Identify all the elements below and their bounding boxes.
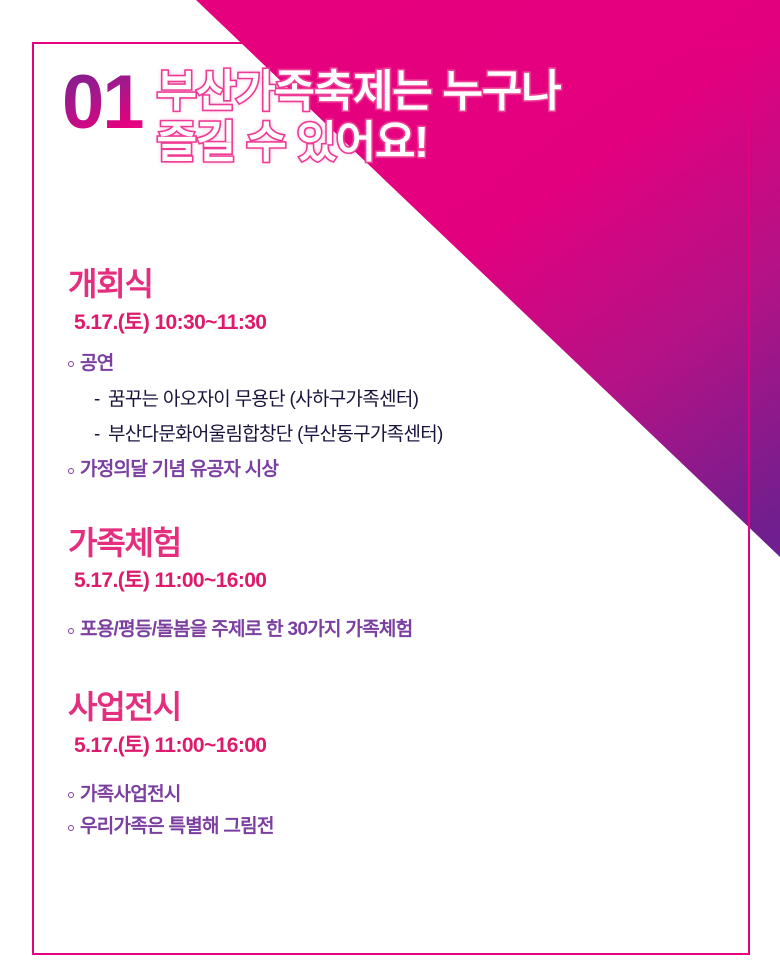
circle-bullet-icon <box>68 468 74 474</box>
sub-item-label: 부산다문화어울림합창단 (부산동구가족센터) <box>108 424 443 445</box>
list-item: 공연 - 꿈꾸는 아오자이 무용단 (사하구가족센터) - 부산다문화어울림합창… <box>68 350 728 453</box>
sub-item-label: 꿈꾸는 아오자이 무용단 (사하구가족센터) <box>108 389 418 410</box>
section-time: 5.17.(토) 11:00~16:00 <box>74 729 728 759</box>
list-item: 포용/평등/돌봄을 주제로 한 30가지 가족체험 <box>68 616 728 645</box>
bullet-label: 포용/평등/돌봄을 주제로 한 30가지 가족체험 <box>80 619 412 640</box>
section-time: 5.17.(토) 10:30~11:30 <box>74 306 728 336</box>
bullet-label: 공연 <box>80 353 114 374</box>
step-number: 01 <box>62 68 157 138</box>
section-title: 사업전시 <box>68 691 728 725</box>
page-title: 부산가족축제는 누구나 즐길 수 있어요! <box>157 66 762 169</box>
bullet-label: 가족사업전시 <box>80 784 181 805</box>
list-item: - 꿈꾸는 아오자이 무용단 (사하구가족센터) <box>80 382 728 417</box>
circle-bullet-icon <box>68 361 74 367</box>
circle-bullet-icon <box>68 825 74 831</box>
list-item: - 부산다문화어울림합창단 (부산동구가족센터) <box>80 417 728 452</box>
section-time: 5.17.(토) 11:00~16:00 <box>74 564 728 594</box>
bullet-list: 포용/평등/돌봄을 주제로 한 30가지 가족체험 <box>68 616 728 645</box>
section-title: 개회식 <box>68 268 728 302</box>
dash-icon: - <box>94 382 100 417</box>
list-item: 가정의달 기념 유공자 시상 <box>68 456 728 485</box>
bullet-label: 우리가족은 특별해 그림전 <box>80 816 274 837</box>
list-item: 가족사업전시 <box>68 781 728 810</box>
poster-header: 01 부산가족축제는 누구나 즐길 수 있어요! <box>62 66 762 169</box>
section-opening-ceremony: 개회식 5.17.(토) 10:30~11:30 공연 - 꿈꾸는 아오자이 무… <box>68 268 728 485</box>
circle-bullet-icon <box>68 792 74 798</box>
bullet-list: 가족사업전시 우리가족은 특별해 그림전 <box>68 781 728 842</box>
circle-bullet-icon <box>68 628 74 634</box>
list-item: 우리가족은 특별해 그림전 <box>68 813 728 842</box>
sub-list: - 꿈꾸는 아오자이 무용단 (사하구가족센터) - 부산다문화어울림합창단 (… <box>80 382 728 452</box>
program-sections: 개회식 5.17.(토) 10:30~11:30 공연 - 꿈꾸는 아오자이 무… <box>68 268 728 846</box>
bullet-label: 가정의달 기념 유공자 시상 <box>80 459 278 480</box>
poster-canvas: 01 부산가족축제는 누구나 즐길 수 있어요! 개회식 5.17.(토) 10… <box>0 0 780 974</box>
section-project-exhibition: 사업전시 5.17.(토) 11:00~16:00 가족사업전시 우리가족은 특… <box>68 691 728 842</box>
dash-icon: - <box>94 417 100 452</box>
bullet-list: 공연 - 꿈꾸는 아오자이 무용단 (사하구가족센터) - 부산다문화어울림합창… <box>68 350 728 485</box>
section-family-experience: 가족체험 5.17.(토) 11:00~16:00 포용/평등/돌봄을 주제로 … <box>68 527 728 645</box>
section-title: 가족체험 <box>68 527 728 561</box>
